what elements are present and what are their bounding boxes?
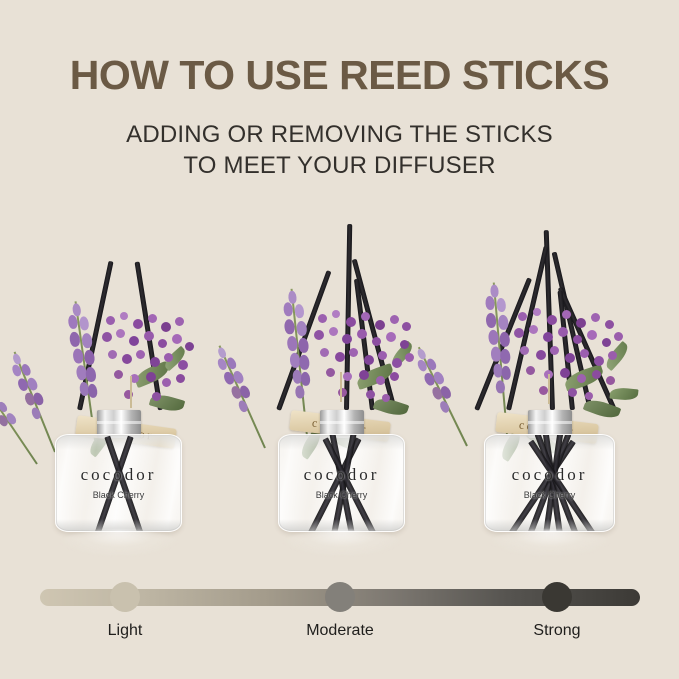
tag-string [130,376,132,408]
bottle-glass: cocodor Black Cherry [484,434,615,532]
tag-string [340,372,342,402]
berry-cluster [312,308,416,412]
bottle-brand: cocodor [485,465,614,485]
bottle-scent: Black Cherry [485,490,614,500]
slider-knob-strong[interactable] [542,582,572,612]
subtitle-line-2: TO MEET YOUR DIFFUSER [0,151,679,182]
slider-knob-moderate[interactable] [325,582,355,612]
page-title: HOW TO USE REED STICKS [0,52,679,99]
product-strong: cocodor cocodor Black Cherry [452,215,662,560]
bottle-brand: cocodor [279,465,404,485]
slider-knob-light[interactable] [110,582,140,612]
diffuser-bottle: cocodor Black Cherry [484,410,615,532]
product-moderate: cocodor cocodor Black Cherry [248,215,448,560]
bottle-reflection [488,530,612,556]
slider-label-moderate: Moderate [306,622,374,640]
slider-label-strong: Strong [533,622,580,640]
subtitle-line-1: ADDING OR REMOVING THE STICKS [0,120,679,151]
diffuser-bottle: cocodor Black Cherry [55,410,182,532]
bottle-reflection [282,530,402,556]
bottle-scent: Black Cherry [56,490,181,500]
bottle-glass: cocodor Black Cherry [55,434,182,532]
infographic-canvas: HOW TO USE REED STICKS ADDING OR REMOVIN… [0,0,679,679]
product-light: cocodor cocodor Black Cherry [30,215,230,560]
berry-cluster [100,310,196,410]
bottle-glass: cocodor Black Cherry [278,434,405,532]
bottle-reflection [59,530,179,556]
tag-string [548,374,550,404]
diffuser-bottle: cocodor Black Cherry [278,410,405,532]
berry-cluster [512,306,624,414]
page-subtitle: ADDING OR REMOVING THE STICKS TO MEET YO… [0,120,679,181]
bottle-scent: Black Cherry [279,490,404,500]
bottle-brand: cocodor [56,465,181,485]
slider-label-light: Light [108,622,143,640]
